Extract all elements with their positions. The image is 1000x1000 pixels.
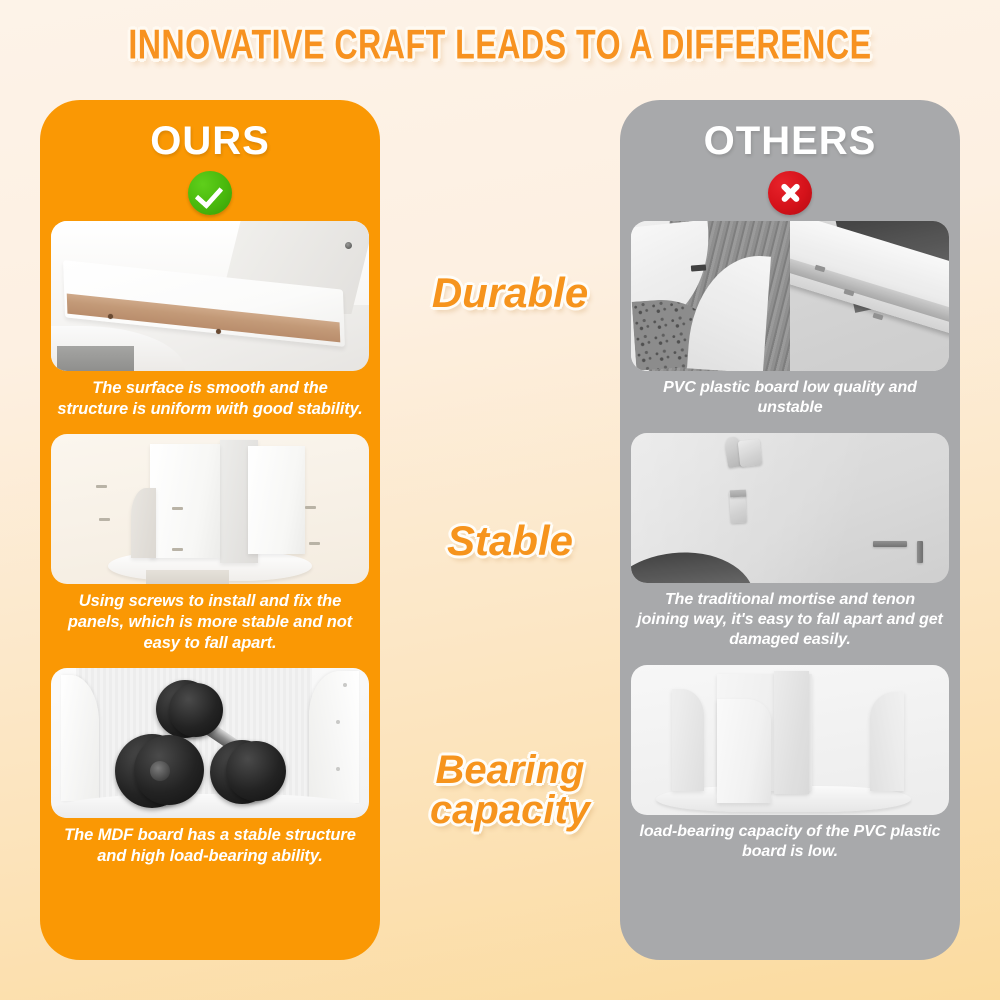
tenon-part-top — [729, 489, 745, 497]
feature-label-bearing-capacity: Bearing capacity — [390, 750, 630, 830]
dumbbells-on-shelf-photo — [51, 668, 369, 818]
others-cell-2: The traditional mortise and tenon joinin… — [631, 433, 949, 651]
ours-column-title: OURS — [51, 120, 369, 162]
tenon-part — [917, 541, 923, 563]
page-title: INNOVATIVE CRAFT LEADS TO A DIFFERENCE — [128, 22, 871, 69]
ours-column: OURS The surface is smooth and the struc… — [40, 100, 380, 960]
mdf-board-photo — [51, 221, 369, 371]
dumbbell-plate — [169, 683, 223, 737]
photo-panel-right — [870, 692, 905, 791]
green-check-circle-icon — [188, 171, 232, 215]
photo-panel-front — [717, 699, 771, 803]
ours-caption-1: The surface is smooth and the structure … — [51, 371, 369, 420]
ours-cell-1: The surface is smooth and the structure … — [51, 221, 369, 420]
others-column-title: OTHERS — [631, 120, 949, 162]
dumbbell-knob — [150, 761, 170, 781]
others-cell-1: PVC plastic board low quality and unstab… — [631, 221, 949, 419]
others-caption-1: PVC plastic board low quality and unstab… — [631, 371, 949, 419]
screwed-panels-photo — [51, 434, 369, 584]
photo-shelf-floor — [51, 794, 369, 818]
red-cross-circle-icon — [768, 171, 812, 215]
screw-icon — [309, 542, 320, 545]
photo-notch — [872, 313, 883, 321]
photo-divider-right — [309, 671, 360, 803]
screw-icon — [343, 683, 347, 687]
photo-divider-left — [61, 675, 99, 801]
others-badge-wrap — [631, 171, 949, 217]
screw-icon — [99, 518, 110, 521]
ours-badge-wrap — [51, 171, 369, 217]
feature-label-durable: Durable — [390, 272, 630, 314]
feature-label-line1: Bearing — [436, 748, 585, 792]
empty-pvc-shelf-photo — [631, 665, 949, 815]
pvc-board-photo — [631, 221, 949, 371]
tenon-part — [873, 541, 907, 547]
mortise-tenon-photo — [631, 433, 949, 583]
screw-icon — [96, 485, 107, 488]
others-column: OTHERS PVC plastic board low quality and — [620, 100, 960, 960]
photo-slot — [691, 264, 706, 271]
screw-icon — [344, 241, 353, 250]
others-cell-3: load-bearing capacity of the PVC plastic… — [631, 665, 949, 863]
header: INNOVATIVE CRAFT LEADS TO A DIFFERENCE — [0, 22, 1000, 62]
photo-stem — [146, 570, 229, 584]
photo-panel-left — [131, 488, 156, 559]
photo-right-half — [790, 221, 949, 371]
feature-label-line2: capacity — [390, 790, 630, 830]
screw-icon — [305, 506, 316, 509]
photo-panel-left — [672, 689, 704, 791]
photo-panel-right — [248, 446, 305, 554]
others-caption-2: The traditional mortise and tenon joinin… — [631, 583, 949, 651]
ours-cell-2: Using screws to install and fix the pane… — [51, 434, 369, 654]
feature-label-stable: Stable — [390, 520, 630, 562]
tenon-part — [738, 439, 763, 467]
screw-icon — [172, 507, 183, 510]
photo-panel-mid — [774, 671, 809, 794]
ours-caption-2: Using screws to install and fix the pane… — [51, 584, 369, 654]
photo-left-half — [631, 221, 790, 371]
screw-icon — [172, 548, 183, 551]
photo-panel-center — [150, 444, 220, 558]
photo-dark-strip — [57, 346, 133, 372]
dumbbell-plate — [226, 741, 286, 801]
ours-cell-3: The MDF board has a stable structure and… — [51, 668, 369, 867]
ours-caption-3: The MDF board has a stable structure and… — [51, 818, 369, 867]
others-caption-3: load-bearing capacity of the PVC plastic… — [631, 815, 949, 863]
